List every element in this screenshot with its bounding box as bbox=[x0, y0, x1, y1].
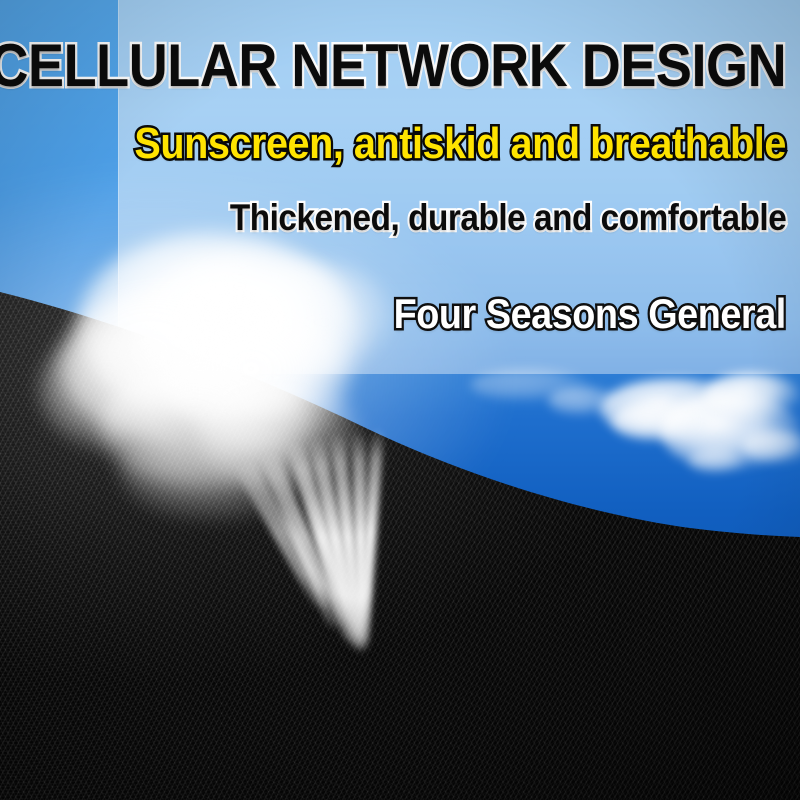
subhead-three: Four Seasons General bbox=[394, 293, 786, 335]
page-title: CELLULAR NETWORK DESIGN bbox=[0, 36, 786, 96]
product-banner: CELLULAR NETWORK DESIGN Sunscreen, antis… bbox=[0, 0, 800, 800]
subhead-two: Thickened, durable and comfortable bbox=[230, 199, 786, 236]
subhead-one: Sunscreen, antiskid and breathable bbox=[134, 122, 786, 166]
headline-stack: CELLULAR NETWORK DESIGN Sunscreen, antis… bbox=[118, 0, 786, 374]
